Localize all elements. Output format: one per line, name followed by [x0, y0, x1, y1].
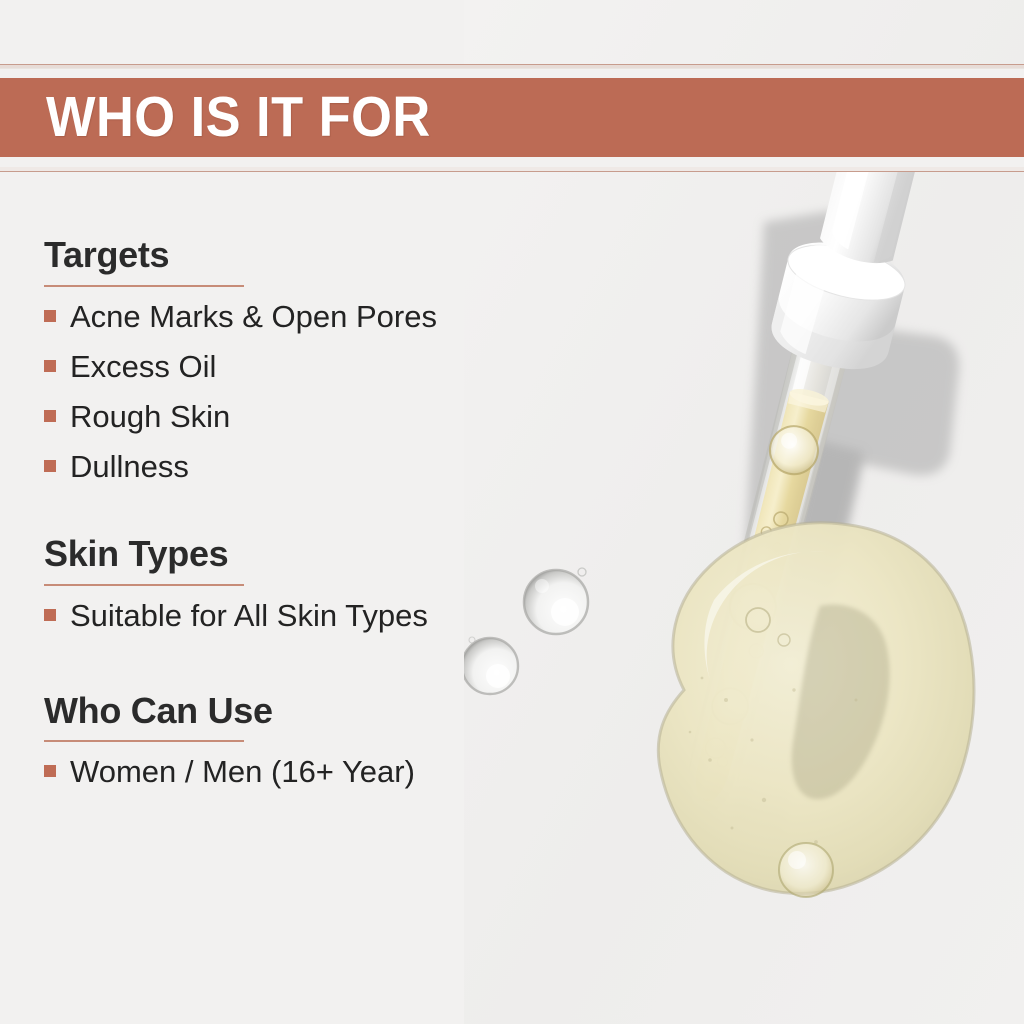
bullet-square-icon [44, 460, 56, 472]
content-column: Targets Acne Marks & Open Pores Excess O… [44, 236, 604, 806]
section-heading-who-can-use: Who Can Use [44, 692, 604, 730]
bullet-square-icon [44, 360, 56, 372]
banner-top-gap [0, 69, 1024, 78]
banner-bottom-gap [0, 157, 1024, 167]
list-item: Excess Oil [44, 351, 604, 401]
bullet-list-targets: Acne Marks & Open Pores Excess Oil Rough… [44, 301, 604, 501]
bullet-list-who-can-use: Women / Men (16+ Year) [44, 756, 604, 806]
bullet-square-icon [44, 310, 56, 322]
list-item: Women / Men (16+ Year) [44, 756, 604, 806]
section-who-can-use: Who Can Use Women / Men (16+ Year) [44, 692, 604, 807]
section-spacer [44, 650, 604, 692]
bullet-square-icon [44, 410, 56, 422]
banner-bar: WHO IS IT FOR [0, 78, 1024, 157]
list-item-label: Dullness [70, 451, 189, 482]
section-underline-targets [44, 285, 244, 287]
section-underline-who-can-use [44, 740, 244, 742]
section-banner: WHO IS IT FOR [0, 64, 1024, 172]
bullet-square-icon [44, 765, 56, 777]
section-heading-skin-types: Skin Types [44, 535, 604, 573]
list-item-label: Rough Skin [70, 401, 230, 432]
section-spacer [44, 501, 604, 535]
list-item-label: Acne Marks & Open Pores [70, 301, 437, 332]
bullet-list-skin-types: Suitable for All Skin Types [44, 600, 604, 650]
banner-bottom-rule [0, 167, 1024, 172]
list-item: Rough Skin [44, 401, 604, 451]
list-item-label: Women / Men (16+ Year) [70, 756, 415, 787]
list-item: Acne Marks & Open Pores [44, 301, 604, 351]
page-title: WHO IS IT FOR [46, 89, 431, 146]
section-skin-types: Skin Types Suitable for All Skin Types [44, 535, 604, 650]
list-item-label: Excess Oil [70, 351, 216, 382]
section-heading-targets: Targets [44, 236, 604, 274]
bullet-square-icon [44, 609, 56, 621]
section-targets: Targets Acne Marks & Open Pores Excess O… [44, 236, 604, 501]
section-underline-skin-types [44, 584, 244, 586]
list-item-label: Suitable for All Skin Types [70, 600, 428, 631]
list-item: Suitable for All Skin Types [44, 600, 604, 650]
poster-root: WHO IS IT FOR Targets Acne Marks & Open … [0, 0, 1024, 1024]
list-item: Dullness [44, 451, 604, 501]
